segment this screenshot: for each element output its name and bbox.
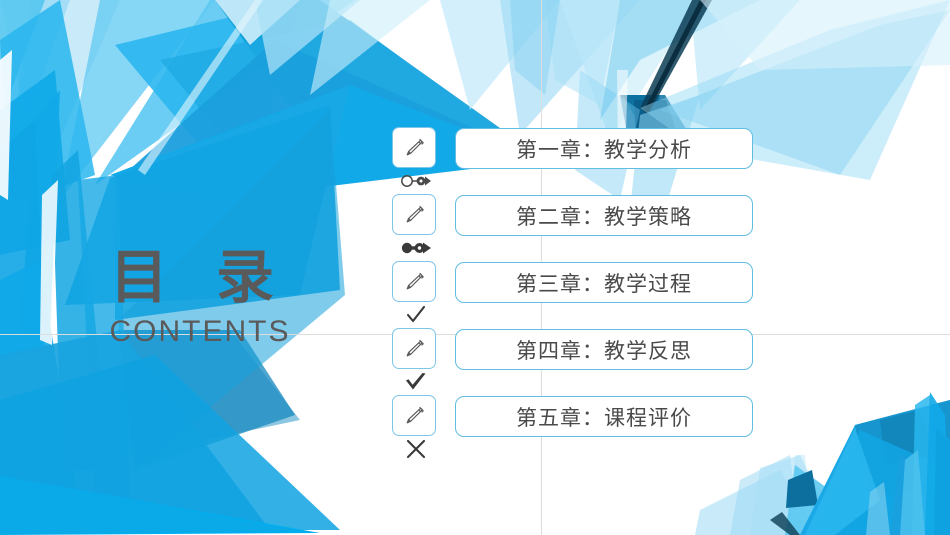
pencil-icon-box[interactable] bbox=[392, 395, 436, 436]
chapter-button[interactable]: 第五章：课程评价 bbox=[455, 396, 753, 437]
chapter-label: 第四章：教学反思 bbox=[516, 335, 692, 365]
key-outline-icon bbox=[396, 169, 436, 193]
chapter-label: 第五章：课程评价 bbox=[516, 402, 692, 432]
pencil-icon bbox=[401, 202, 427, 228]
pencil-icon-box[interactable] bbox=[392, 328, 436, 369]
pencil-icon bbox=[401, 135, 427, 161]
pencil-icon-box[interactable] bbox=[392, 127, 436, 168]
chapter-label: 第二章：教学策略 bbox=[516, 201, 692, 231]
check-bold-icon bbox=[396, 370, 436, 394]
chapter-button[interactable]: 第三章：教学过程 bbox=[455, 262, 753, 303]
pencil-icon bbox=[401, 269, 427, 295]
chapter-button[interactable]: 第一章：教学分析 bbox=[455, 128, 753, 169]
pencil-icon bbox=[401, 336, 427, 362]
pencil-icon-box[interactable] bbox=[392, 261, 436, 302]
cross-icon bbox=[396, 437, 436, 461]
chapter-label: 第三章：教学过程 bbox=[516, 268, 692, 298]
chapter-button[interactable]: 第四章：教学反思 bbox=[455, 329, 753, 370]
chapter-label: 第一章：教学分析 bbox=[516, 134, 692, 164]
check-thin-icon bbox=[396, 303, 436, 327]
page-title-cn: 目 录 bbox=[60, 248, 340, 309]
pencil-icon-box[interactable] bbox=[392, 194, 436, 235]
page-title-block: 目 录 CONTENTS bbox=[60, 248, 340, 349]
page-title-en: CONTENTS bbox=[60, 315, 340, 349]
key-filled-icon bbox=[396, 236, 436, 260]
slide-canvas: 目 录 CONTENTS bbox=[0, 0, 950, 535]
pencil-icon bbox=[401, 403, 427, 429]
chapter-button[interactable]: 第二章：教学策略 bbox=[455, 195, 753, 236]
